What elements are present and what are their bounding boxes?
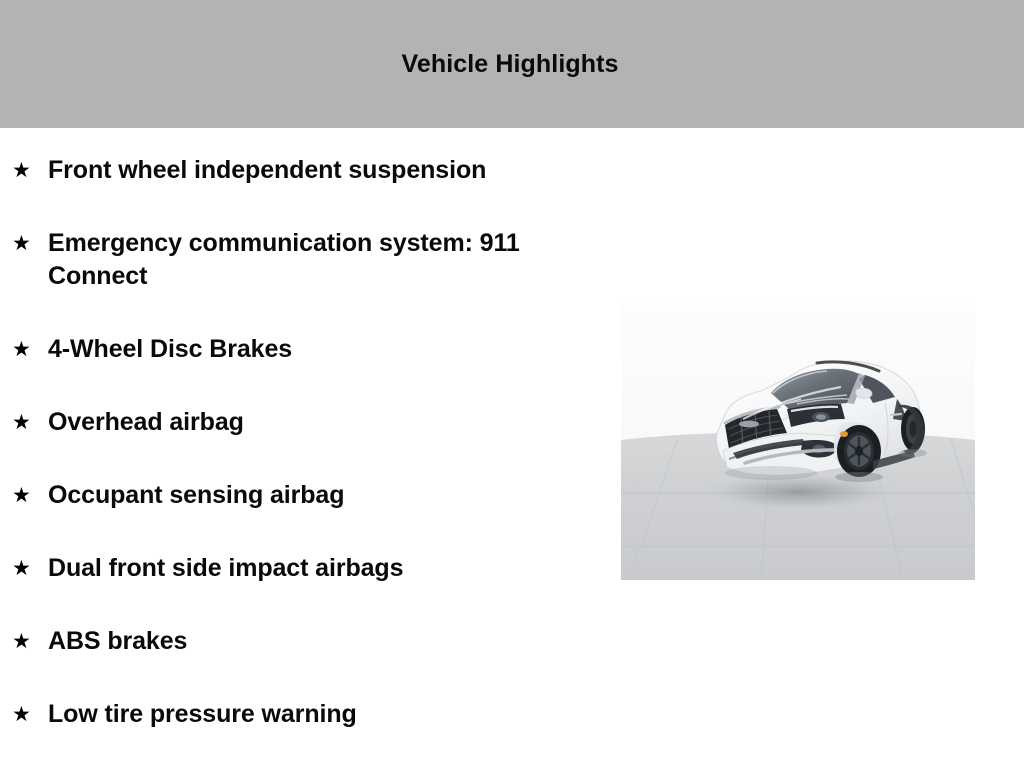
star-bullet-icon: ★: [12, 154, 48, 187]
vehicle-highlights-slide: Vehicle Highlights ★Front wheel independ…: [0, 0, 1024, 768]
vehicle-highlights-list: ★Front wheel independent suspension★Emer…: [0, 128, 600, 771]
highlight-item: ★Low tire pressure warning: [0, 698, 600, 731]
highlight-item: ★Overhead airbag: [0, 406, 600, 439]
highlight-item-label: Overhead airbag: [48, 406, 553, 439]
star-bullet-icon: ★: [12, 406, 48, 439]
page-title: Vehicle Highlights: [401, 50, 618, 79]
highlight-item: ★Occupant sensing airbag: [0, 479, 600, 512]
vehicle-photo-image: [621, 303, 975, 580]
highlight-item-label: Dual front side impact airbags: [48, 552, 553, 585]
highlight-item-label: 4-Wheel Disc Brakes: [48, 333, 553, 366]
highlight-item: ★Emergency communication system: 911 Con…: [0, 227, 600, 293]
highlight-item: ★4-Wheel Disc Brakes: [0, 333, 600, 366]
highlight-item-label: Emergency communication system: 911 Conn…: [48, 227, 553, 293]
highlight-item: ★ABS brakes: [0, 625, 600, 658]
star-bullet-icon: ★: [12, 698, 48, 731]
vehicle-photo: [621, 303, 975, 580]
star-bullet-icon: ★: [12, 552, 48, 585]
star-bullet-icon: ★: [12, 227, 48, 260]
highlight-item: ★Dual front side impact airbags: [0, 552, 600, 585]
highlight-item: ★Front wheel independent suspension: [0, 154, 600, 187]
highlight-item-label: Occupant sensing airbag: [48, 479, 553, 512]
star-bullet-icon: ★: [12, 333, 48, 366]
header-band: Vehicle Highlights: [0, 0, 1024, 128]
highlight-item-label: Low tire pressure warning: [48, 698, 553, 731]
highlight-item-label: Front wheel independent suspension: [48, 154, 553, 187]
star-bullet-icon: ★: [12, 479, 48, 512]
star-bullet-icon: ★: [12, 625, 48, 658]
highlight-item-label: ABS brakes: [48, 625, 553, 658]
